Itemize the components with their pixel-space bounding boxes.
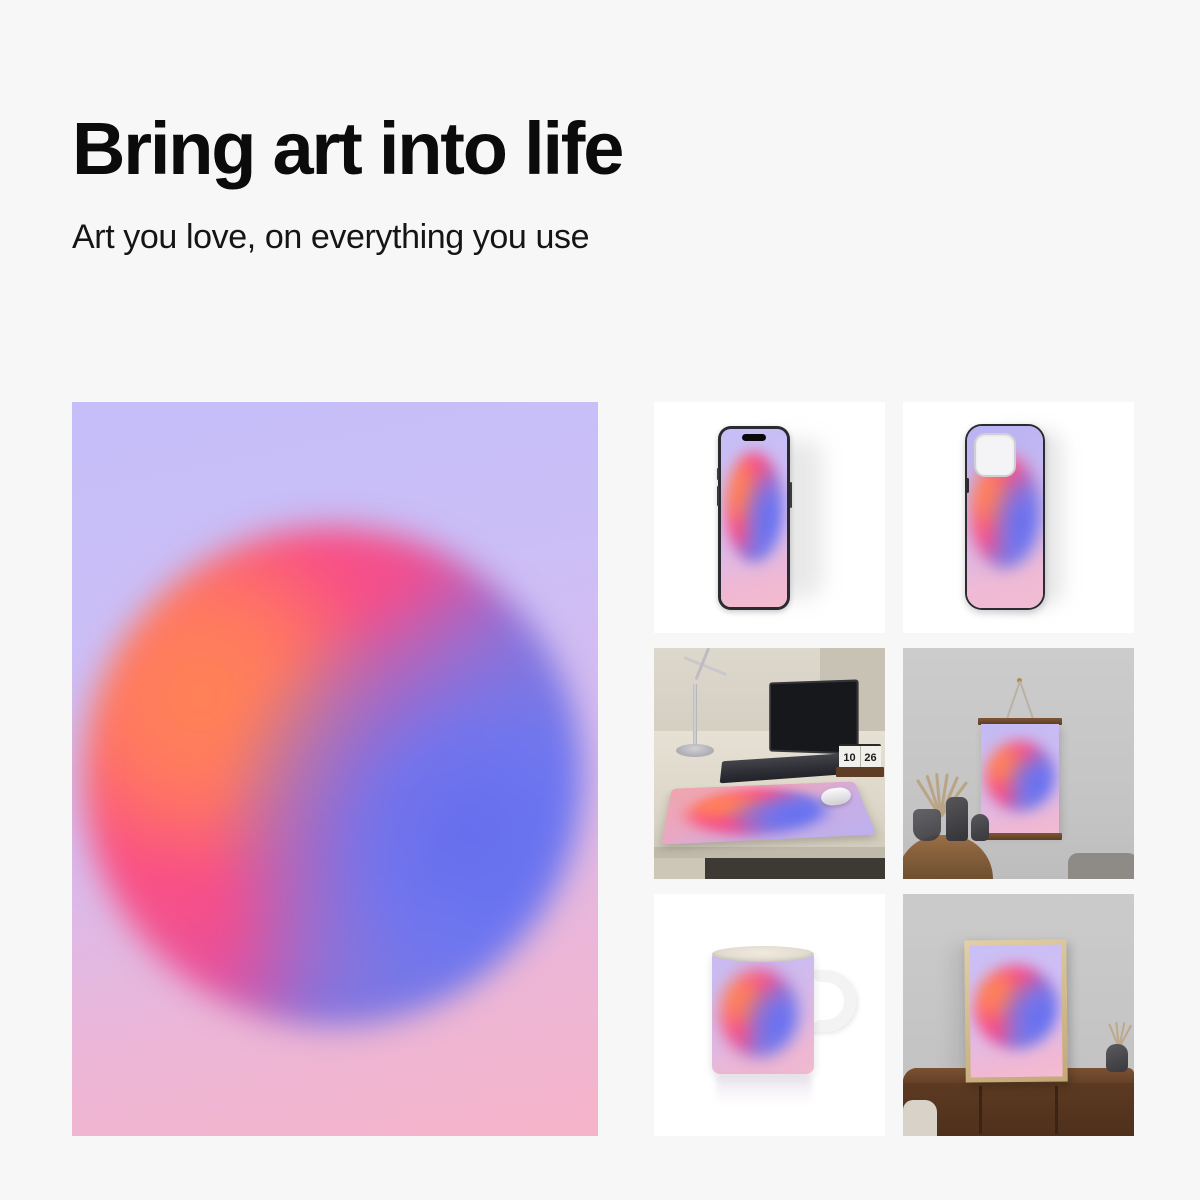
page-header: Bring art into life Art you love, on eve… [72, 112, 1072, 257]
poster-artwork [969, 945, 1062, 1078]
phone-wallpaper-artwork [721, 429, 787, 607]
dynamic-island-icon [742, 434, 766, 441]
case-side-button-cutout [966, 478, 969, 493]
mockup-tile-mug[interactable] [654, 894, 885, 1136]
mockup-tile-framed-poster[interactable] [903, 894, 1134, 1136]
calendar-month: 10 [843, 752, 855, 764]
page-title: Bring art into life [72, 112, 1072, 186]
mockup-tile-desk-mat[interactable]: 10 26 [654, 648, 885, 879]
sideboard-door-divider [979, 1086, 982, 1134]
poster-print [969, 945, 1062, 1078]
calendar-day: 26 [864, 752, 876, 764]
canvas-rod-bottom [978, 833, 1062, 840]
mug-body [712, 952, 814, 1074]
artwork-sphere [725, 452, 783, 562]
phone-case-scene [903, 402, 1134, 633]
mug-reflection [716, 1076, 812, 1104]
phone-power-button [790, 482, 792, 508]
hero-artwork-panel[interactable] [72, 402, 598, 1136]
phone-scene [654, 402, 885, 633]
hanging-canvas-scene [903, 648, 1134, 879]
mockup-tile-phone-wallpaper[interactable] [654, 402, 885, 633]
desk-scene: 10 26 [654, 648, 885, 879]
gradient-sphere-artwork [72, 402, 598, 1136]
ceramic-vase-short [971, 814, 989, 841]
flip-calendar-stand [836, 767, 884, 777]
desk-edge [654, 847, 885, 859]
glass-vase [913, 809, 941, 841]
phone-mute-switch [717, 468, 719, 480]
sofa-corner [1068, 853, 1134, 879]
armchair-corner [903, 1100, 937, 1136]
framed-poster-scene [903, 894, 1134, 1136]
product-gallery: 10 26 [72, 402, 1134, 1136]
artwork-sphere [720, 969, 798, 1057]
phone-case-mockup [965, 424, 1045, 610]
page-subtitle: Art you love, on everything you use [72, 186, 1072, 257]
sideboard-door-divider [1055, 1086, 1058, 1134]
artwork-sphere [83, 527, 583, 1026]
ceramic-vase [1106, 1044, 1128, 1072]
camera-cutout-icon [974, 433, 1016, 477]
smartphone-mockup [718, 426, 790, 610]
mockup-tile-phone-case[interactable] [903, 402, 1134, 633]
desk-lamp-post [693, 684, 697, 746]
canvas-artwork [981, 724, 1059, 834]
hanging-canvas-product [981, 718, 1059, 840]
mug-artwork [712, 952, 814, 1074]
pampas-grass [1102, 1014, 1130, 1048]
ceramic-vase-tall [946, 797, 968, 841]
phone-volume-buttons [717, 486, 719, 506]
artwork-sphere [985, 741, 1055, 811]
canvas-print [981, 724, 1059, 834]
desk-underside-left [654, 858, 705, 879]
desk-lamp-base [676, 744, 714, 757]
framed-poster-product [964, 939, 1067, 1082]
mug-rim [712, 946, 814, 962]
product-mockup-grid: 10 26 [654, 402, 1134, 1136]
mug-scene [654, 894, 885, 1136]
sideboard-chevron-pattern [909, 1086, 1132, 1134]
mockup-tile-hanging-canvas[interactable] [903, 648, 1134, 879]
phone-screen [721, 429, 787, 607]
